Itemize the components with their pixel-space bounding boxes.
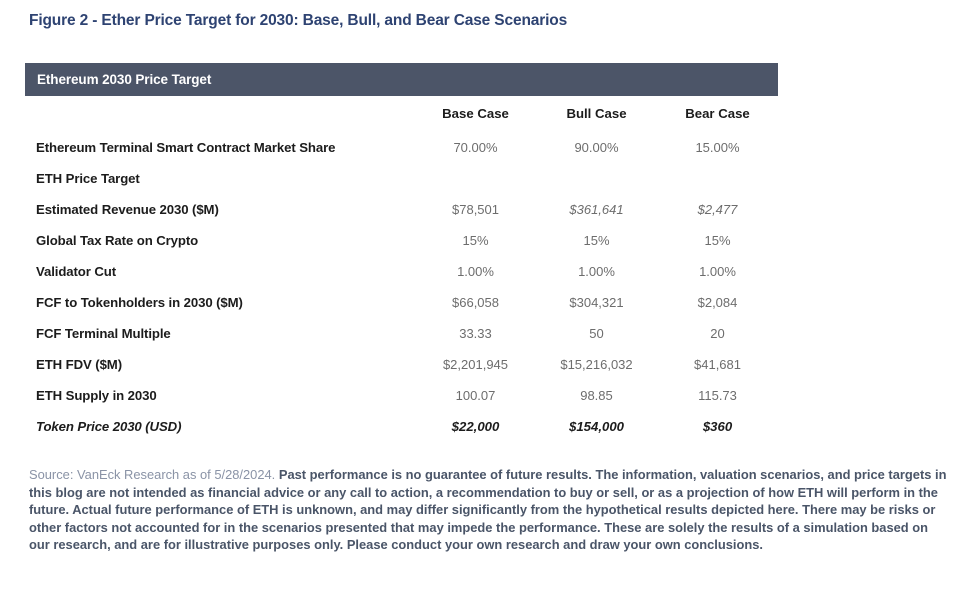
table-row: Validator Cut 1.00% 1.00% 1.00%	[25, 256, 778, 287]
cell-bear-case: 1.00%	[657, 256, 778, 287]
cell-bull-case: $361,641	[536, 194, 657, 225]
column-header-metric	[25, 96, 415, 132]
cell-base-case: $22,000	[415, 411, 536, 442]
price-target-table-block: Ethereum 2030 Price Target Base Case Bul…	[25, 63, 778, 442]
cell-base-case: 70.00%	[415, 132, 536, 163]
table-header-bar-label: Ethereum 2030 Price Target	[37, 72, 211, 87]
table-row: FCF to Tokenholders in 2030 ($M) $66,058…	[25, 287, 778, 318]
row-label: Estimated Revenue 2030 ($M)	[25, 194, 415, 225]
column-header-bull-case: Bull Case	[536, 96, 657, 132]
cell-bear-case: 115.73	[657, 380, 778, 411]
table-row: Ethereum Terminal Smart Contract Market …	[25, 132, 778, 163]
row-label: FCF to Tokenholders in 2030 ($M)	[25, 287, 415, 318]
table-section-row: ETH Price Target	[25, 163, 778, 194]
footnote: Source: VanEck Research as of 5/28/2024.…	[29, 466, 951, 554]
cell-base-case: 15%	[415, 225, 536, 256]
row-label: Global Tax Rate on Crypto	[25, 225, 415, 256]
cell-bull-case	[536, 163, 657, 194]
cell-base-case: 1.00%	[415, 256, 536, 287]
table-column-header-row: Base Case Bull Case Bear Case	[25, 96, 778, 132]
column-header-bear-case: Bear Case	[657, 96, 778, 132]
cell-bear-case: $41,681	[657, 349, 778, 380]
cell-bear-case: 15.00%	[657, 132, 778, 163]
row-label: Ethereum Terminal Smart Contract Market …	[25, 132, 415, 163]
cell-bear-case: $2,084	[657, 287, 778, 318]
cell-bear-case: $360	[657, 411, 778, 442]
column-header-base-case: Base Case	[415, 96, 536, 132]
cell-base-case: $78,501	[415, 194, 536, 225]
cell-bull-case: 90.00%	[536, 132, 657, 163]
table-row: ETH FDV ($M) $2,201,945 $15,216,032 $41,…	[25, 349, 778, 380]
table-row: ETH Supply in 2030 100.07 98.85 115.73	[25, 380, 778, 411]
cell-base-case: 33.33	[415, 318, 536, 349]
row-label: Validator Cut	[25, 256, 415, 287]
cell-bear-case: 15%	[657, 225, 778, 256]
table-total-row: Token Price 2030 (USD) $22,000 $154,000 …	[25, 411, 778, 442]
cell-bull-case: $154,000	[536, 411, 657, 442]
row-label: ETH FDV ($M)	[25, 349, 415, 380]
table-body: Ethereum Terminal Smart Contract Market …	[25, 132, 778, 442]
cell-bull-case: 98.85	[536, 380, 657, 411]
cell-bear-case: 20	[657, 318, 778, 349]
cell-bull-case: 15%	[536, 225, 657, 256]
cell-bull-case: 50	[536, 318, 657, 349]
row-label: ETH Supply in 2030	[25, 380, 415, 411]
row-label: Token Price 2030 (USD)	[25, 411, 415, 442]
cell-base-case: $66,058	[415, 287, 536, 318]
table-row: FCF Terminal Multiple 33.33 50 20	[25, 318, 778, 349]
cell-bull-case: $304,321	[536, 287, 657, 318]
cell-bear-case	[657, 163, 778, 194]
row-label: ETH Price Target	[25, 163, 415, 194]
figure-container: Figure 2 - Ether Price Target for 2030: …	[0, 0, 973, 606]
cell-base-case	[415, 163, 536, 194]
table-head: Base Case Bull Case Bear Case	[25, 96, 778, 132]
cell-base-case: $2,201,945	[415, 349, 536, 380]
cell-bull-case: 1.00%	[536, 256, 657, 287]
cell-bear-case: $2,477	[657, 194, 778, 225]
cell-bull-case: $15,216,032	[536, 349, 657, 380]
row-label: FCF Terminal Multiple	[25, 318, 415, 349]
table-row: Global Tax Rate on Crypto 15% 15% 15%	[25, 225, 778, 256]
figure-title: Figure 2 - Ether Price Target for 2030: …	[29, 12, 567, 30]
cell-base-case: 100.07	[415, 380, 536, 411]
price-target-table: Base Case Bull Case Bear Case Ethereum T…	[25, 96, 778, 442]
table-header-bar: Ethereum 2030 Price Target	[25, 63, 778, 96]
footnote-source: Source: VanEck Research as of 5/28/2024.	[29, 467, 279, 482]
table-row: Estimated Revenue 2030 ($M) $78,501 $361…	[25, 194, 778, 225]
